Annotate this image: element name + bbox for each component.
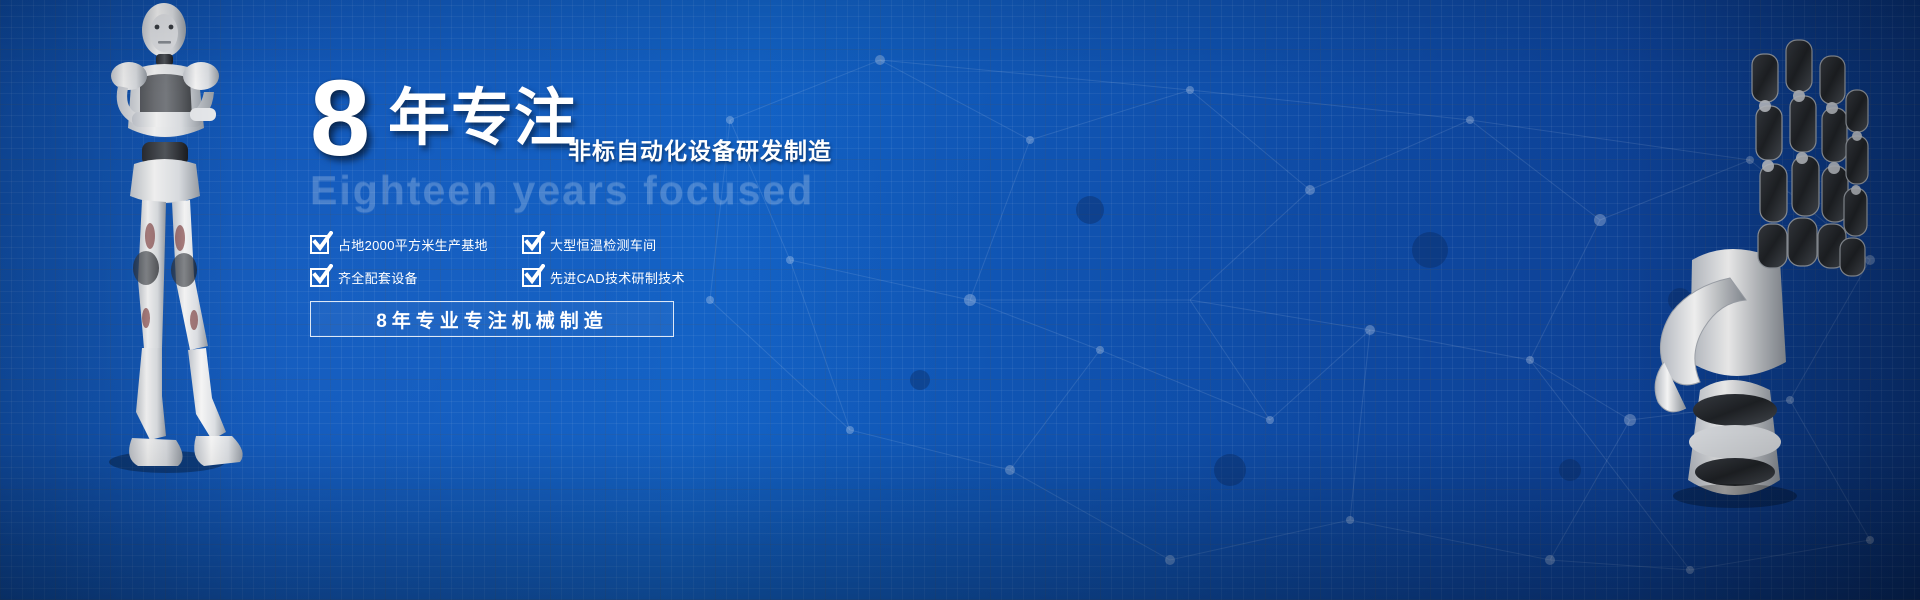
feature-item: 先进CAD技术研制技术 bbox=[522, 268, 685, 287]
headline-number: 8 bbox=[310, 64, 368, 172]
feature-row: 齐全配套设备 先进CAD技术研制技术 bbox=[310, 268, 710, 287]
feature-item: 齐全配套设备 bbox=[310, 268, 522, 287]
cta-button[interactable]: 8年专业专注机械制造 bbox=[310, 301, 674, 337]
headline-cn: 年专注 bbox=[388, 88, 577, 150]
checkbox-checked-icon bbox=[310, 268, 329, 287]
headline: 8 年专注 非标自动化设备研发制造 bbox=[310, 76, 1070, 158]
feature-label: 大型恒温检测车间 bbox=[550, 235, 656, 254]
feature-label: 齐全配套设备 bbox=[338, 268, 418, 287]
checkbox-checked-icon bbox=[310, 235, 329, 254]
checkbox-checked-icon bbox=[522, 268, 541, 287]
feature-label: 占地2000平方米生产基地 bbox=[338, 235, 488, 254]
feature-item: 大型恒温检测车间 bbox=[522, 235, 656, 254]
robotic-hand-figure bbox=[1580, 10, 1880, 510]
promo-banner: 8 年专注 非标自动化设备研发制造 Eighteen years focused… bbox=[0, 0, 1920, 600]
banner-content: 8 年专注 非标自动化设备研发制造 Eighteen years focused… bbox=[310, 76, 1070, 337]
feature-list: 占地2000平方米生产基地 大型恒温检测车间 齐全配套设备 bbox=[310, 235, 710, 287]
cta-label: 8年专业专注机械制造 bbox=[376, 306, 608, 333]
humanoid-robot-figure bbox=[72, 0, 262, 480]
feature-label: 先进CAD技术研制技术 bbox=[550, 268, 685, 287]
feature-item: 占地2000平方米生产基地 bbox=[310, 235, 522, 254]
ghost-english-text: Eighteen years focused bbox=[310, 170, 1070, 211]
headline-subtitle: 非标自动化设备研发制造 bbox=[568, 132, 832, 166]
feature-row: 占地2000平方米生产基地 大型恒温检测车间 bbox=[310, 235, 710, 254]
checkbox-checked-icon bbox=[522, 235, 541, 254]
